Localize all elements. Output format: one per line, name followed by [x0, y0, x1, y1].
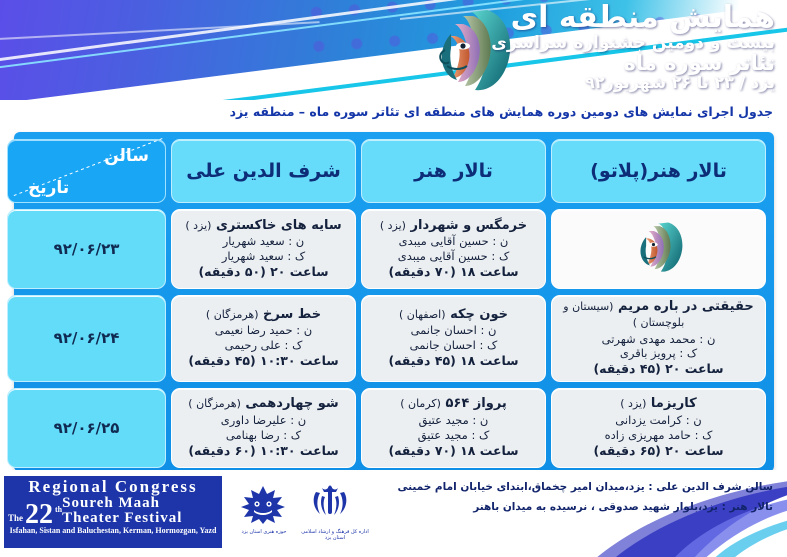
show-cell: حقیقتی در باره مریم (سیستان و بلوچستان )… — [551, 295, 766, 382]
logo-ordinal: th — [55, 505, 62, 514]
islamic-republic-emblem: اداره کل فرهنگ و ارشاد اسلامی استان یزد — [300, 484, 370, 541]
show-writer: ن : کرامت یزدانی — [615, 413, 701, 428]
logo-festival-words: Soureh Maah Theater Festival — [62, 496, 182, 527]
corner-hall-label: سالن — [104, 146, 149, 166]
show-region: (هرمزگان ) — [206, 308, 259, 321]
show-title-text: خون چکه — [450, 307, 508, 322]
howzeh-honari-caption: حوزه هنری استان یزد — [232, 529, 296, 535]
hall-header-1: تالار هنر(پلاتو) — [551, 139, 766, 203]
show-cell: خرمگس و شهردار (یزد )ن : حسین آقایی میبد… — [361, 209, 546, 289]
show-region: (یزد ) — [620, 397, 646, 410]
show-region: (یزد ) — [380, 219, 406, 232]
hall-header-3: شرف الدین علی — [171, 139, 356, 203]
show-time: ساعت ۲۰ (۶۵ دقیقه) — [593, 443, 723, 459]
show-cell: پرواز ۵۶۴ (کرمان )ن : مجید عتیقک : مجید … — [361, 388, 546, 468]
islamic-republic-caption: اداره کل فرهنگ و ارشاد اسلامی استان یزد — [300, 529, 370, 541]
show-title: حقیقتی در باره مریم (سیستان و بلوچستان ) — [556, 299, 761, 332]
show-time: ساعت ۱۸ (۷۰ دقیقه) — [388, 264, 518, 280]
title-line-2: بیست و دومین جشنواره سراسری — [475, 35, 775, 53]
show-time: ساعت ۱۰:۳۰ (۶۰ دقیقه) — [188, 443, 338, 459]
show-time: ساعت ۱۰:۳۰ (۴۵ دقیقه) — [188, 353, 338, 369]
logo-word-2: Theater Festival — [62, 511, 182, 526]
corner-header: سالنتاریخ — [7, 139, 166, 203]
show-director: ک : حامد مهریزی زاده — [605, 428, 713, 443]
mask-logo-cell — [551, 209, 766, 289]
logo-provinces: Isfahan, Sistan and Baluchestan, Kerman,… — [8, 526, 218, 535]
title-line-1: همایش منطقه ای — [475, 2, 775, 34]
schedule-table-panel: تالار هنر(پلاتو)تالار هنرشرف الدین علیسا… — [14, 132, 774, 472]
title-line-4: یزد / ۲۳ تا ۲۶ شهریور۹۲ — [475, 75, 775, 92]
show-time: ساعت ۱۸ (۴۵ دقیقه) — [388, 353, 518, 369]
show-writer: ن : سعید شهریار — [223, 234, 305, 249]
show-region: (یزد ) — [185, 219, 211, 232]
show-title-text: حقیقتی در باره مریم — [618, 299, 754, 314]
logo-edition-row: The 22 th Soureh Maah Theater Festival — [8, 496, 218, 527]
show-title-text: سایه های خاکستری — [216, 218, 342, 233]
show-writer: ن : حسین آقایی میبدی — [399, 234, 509, 249]
show-director: ک : پرویز باقری — [620, 346, 697, 361]
date-cell: ۹۲/۰۶/۲۵ — [7, 388, 166, 468]
show-writer: ن : علیرضا داوری — [221, 413, 306, 428]
show-director: ک : سعید شهریار — [222, 249, 305, 264]
show-title: خون چکه (اصفهان ) — [399, 307, 508, 323]
show-title: شو چهاردهمی (هرمزگان ) — [188, 396, 338, 412]
logo-word-1: Soureh Maah — [62, 496, 182, 511]
show-director: ک : حسین آقایی میبدی — [398, 249, 510, 264]
show-cell: کاریزما (یزد )ن : کرامت یزدانیک : حامد م… — [551, 388, 766, 468]
theater-mask-logo — [632, 220, 686, 278]
show-cell: خط سرخ (هرمزگان )ن : حمید رضا نعیمیک : ع… — [171, 295, 356, 382]
show-title: خط سرخ (هرمزگان ) — [206, 307, 321, 323]
show-director: ک : مجید عتیق — [418, 428, 490, 443]
show-cell: شو چهاردهمی (هرمزگان )ن : علیرضا داوریک … — [171, 388, 356, 468]
date-cell: ۹۲/۰۶/۲۳ — [7, 209, 166, 289]
show-title-text: کاریزما — [651, 396, 697, 411]
english-festival-logo: Regional Congress The 22 th Soureh Maah … — [4, 476, 222, 548]
show-title: سایه های خاکستری (یزد ) — [185, 218, 341, 234]
show-time: ساعت ۲۰ (۵۰ دقیقه) — [198, 264, 328, 280]
show-title: کاریزما (یزد ) — [620, 396, 696, 412]
footer: سالن شرف الدین علی : یزد،میدان امیر چخما… — [0, 470, 787, 557]
show-writer: ن : مجید عتیق — [419, 413, 489, 428]
show-region: (هرمزگان ) — [188, 397, 241, 410]
top-banner: همایش منطقه ای بیست و دومین جشنواره سراس… — [0, 0, 787, 100]
show-writer: ن : احسان جانمی — [411, 323, 497, 338]
logo-the: The — [8, 513, 23, 523]
show-director: ک : علی رحیمی — [225, 338, 303, 353]
show-title-text: خط سرخ — [263, 307, 321, 322]
logo-number: 22 — [25, 503, 53, 527]
schedule-subtitle: جدول اجرای نمایش های دومین دوره همایش ها… — [13, 104, 773, 119]
date-cell: ۹۲/۰۶/۲۴ — [7, 295, 166, 382]
sponsor-emblems: حوزه هنری استان یزد اداره کل فرهنگ و ارش… — [232, 482, 382, 544]
show-title: پرواز ۵۶۴ (کرمان ) — [400, 396, 507, 412]
title-line-3: تئاتر سوره ماه — [475, 52, 775, 74]
show-time: ساعت ۱۸ (۷۰ دقیقه) — [388, 443, 518, 459]
show-cell: سایه های خاکستری (یزد )ن : سعید شهریارک … — [171, 209, 356, 289]
show-title-text: شو چهاردهمی — [245, 396, 338, 411]
show-cell: خون چکه (اصفهان )ن : احسان جانمیک : احسا… — [361, 295, 546, 382]
festival-title-block: همایش منطقه ای بیست و دومین جشنواره سراس… — [475, 2, 775, 92]
howzeh-honari-emblem: حوزه هنری استان یزد — [232, 484, 296, 535]
show-writer: ن : حمید رضا نعیمی — [215, 323, 312, 338]
schedule-grid: تالار هنر(پلاتو)تالار هنرشرف الدین علیسا… — [22, 139, 766, 468]
show-writer: ن : محمد مهدی شهرتی — [602, 332, 716, 347]
show-title-text: پرواز ۵۶۴ — [445, 396, 506, 411]
show-region: (اصفهان ) — [399, 308, 446, 321]
show-director: ک : احسان جانمی — [410, 338, 498, 353]
hall-header-2: تالار هنر — [361, 139, 546, 203]
corner-date-label: تاریخ — [28, 178, 69, 198]
show-region: (کرمان ) — [400, 397, 441, 410]
show-title: خرمگس و شهردار (یزد ) — [380, 218, 527, 234]
show-director: ک : رضا بهنامی — [226, 428, 301, 443]
show-time: ساعت ۲۰ (۴۵ دقیقه) — [593, 361, 723, 377]
logo-regional-congress: Regional Congress — [8, 478, 218, 496]
show-title-text: خرمگس و شهردار — [411, 218, 528, 233]
